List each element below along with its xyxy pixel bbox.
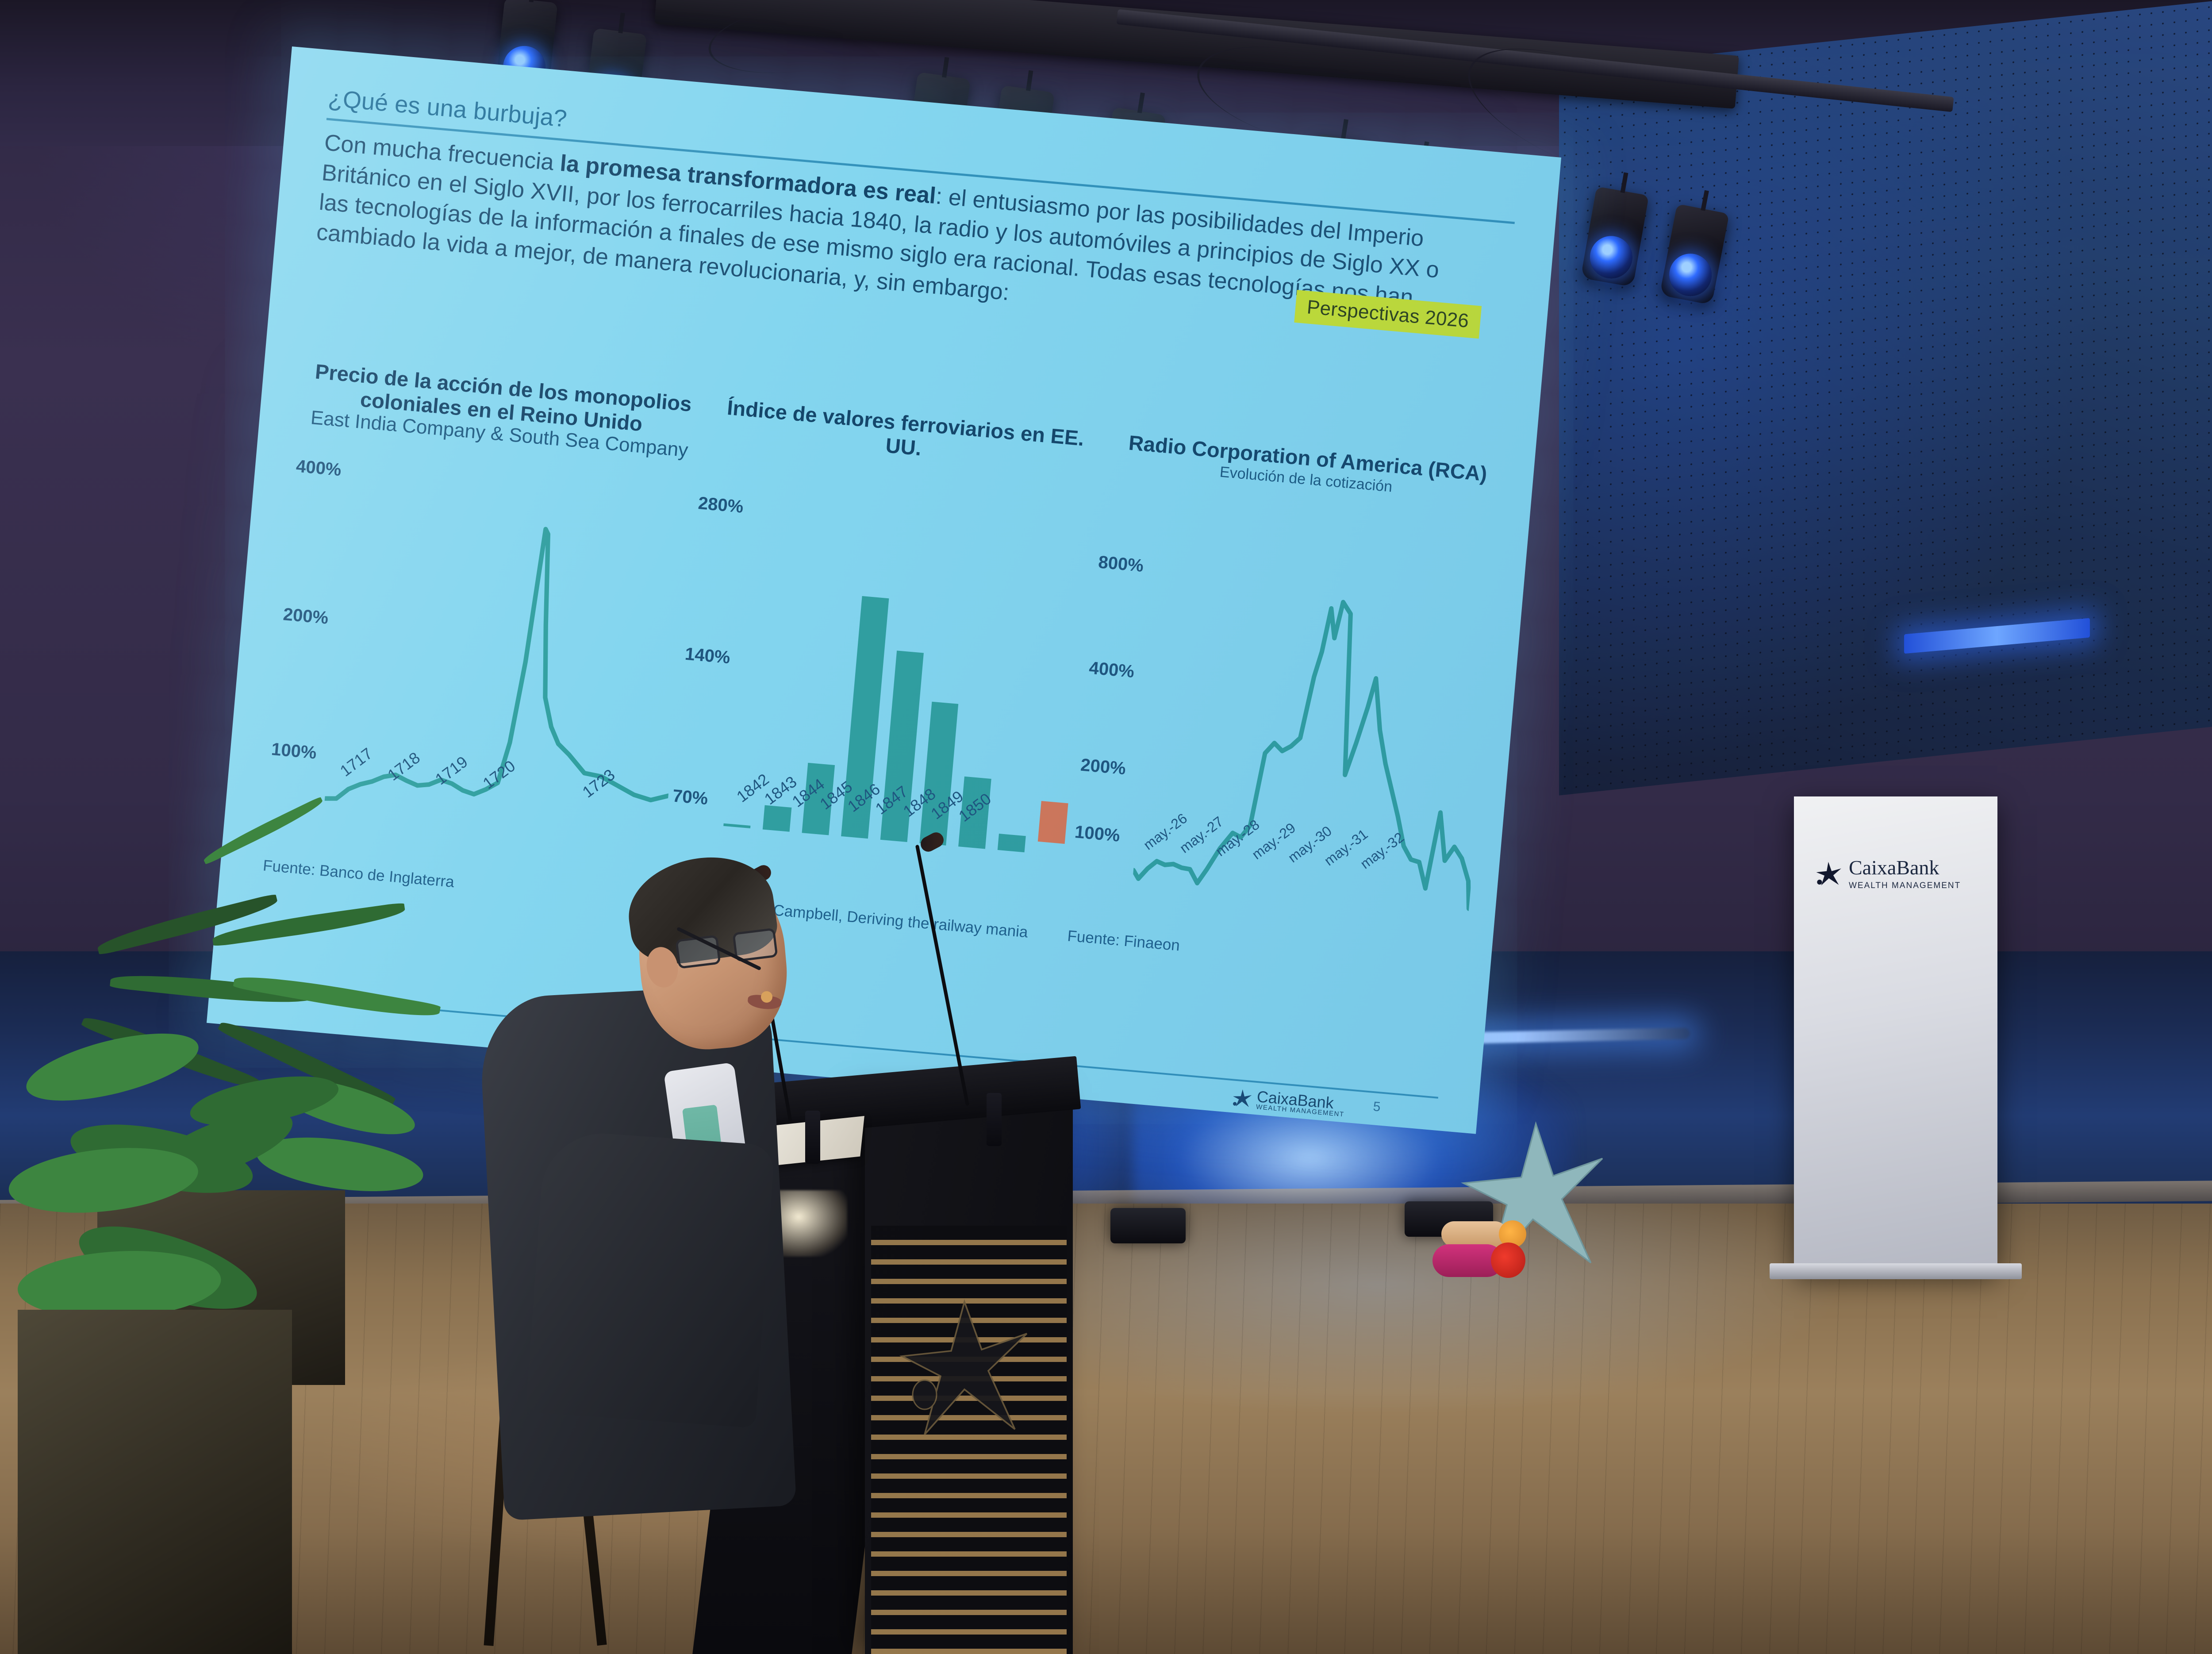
caixabank-wealth-banner: CaixaBank WEALTH MANAGEMENT	[1794, 796, 1997, 1270]
chart1-plot-area: 400% 200% 100% 1717 1718 1719 1720 1723	[266, 469, 694, 847]
chart2-ytick: 280%	[697, 493, 744, 517]
chart2-bar	[919, 701, 959, 846]
floor-wash-light-icon	[1110, 1208, 1186, 1243]
chart1-line-series	[323, 474, 694, 847]
slide-body-text: Con mucha frecuencia la promesa transfor…	[315, 128, 1454, 346]
chart3-ytick: 400%	[1088, 658, 1135, 682]
banner-brand-text: CaixaBank WEALTH MANAGEMENT	[1849, 858, 1961, 890]
banner-brand-sub: WEALTH MANAGEMENT	[1849, 881, 1961, 890]
banner-base	[1770, 1263, 2022, 1279]
caixabank-star-icon	[1231, 1087, 1253, 1109]
slide-footer-brand: CaixaBank WEALTH MANAGEMENT	[1256, 1089, 1346, 1118]
chart2-title: Índice de valores ferroviarios en EE. UU…	[704, 394, 1106, 476]
sculpture-cylinder-tan	[1441, 1221, 1508, 1247]
chart-rca: Radio Corporation of America (RCA) Evolu…	[1064, 429, 1508, 984]
chart1-ytick: 400%	[295, 457, 342, 481]
chart3-plot-area: 800% 400% 200% 100% may.-26may.-27may.-2…	[1070, 526, 1499, 918]
slide-page-number: 5	[1372, 1099, 1381, 1115]
speaker-person	[482, 801, 845, 1654]
chart3-line-series	[1132, 531, 1499, 918]
chart2-ytick: 140%	[684, 644, 731, 668]
chart3-ytick: 800%	[1098, 552, 1144, 576]
photo-scene: ¿Qué es una burbuja? Con mucha frecuenci…	[0, 0, 2212, 1654]
microphone-right	[920, 832, 1088, 1168]
sculpture-cylinder-red	[1491, 1242, 1525, 1278]
headset-mic-capsule-icon	[761, 991, 772, 1003]
chart1-ytick: 200%	[282, 604, 329, 628]
chart1-ytick: 100%	[270, 739, 317, 763]
caixabank-star-icon	[898, 1296, 1031, 1442]
chart3-ytick: 200%	[1080, 755, 1127, 779]
speaker-arm	[526, 1130, 775, 1428]
potted-plant-foreground	[0, 1062, 310, 1654]
banner-logo: CaixaBank WEALTH MANAGEMENT	[1815, 858, 1961, 890]
slide-footer-logo: CaixaBank WEALTH MANAGEMENT	[1231, 1087, 1346, 1118]
caixabank-star-icon	[1815, 860, 1843, 888]
